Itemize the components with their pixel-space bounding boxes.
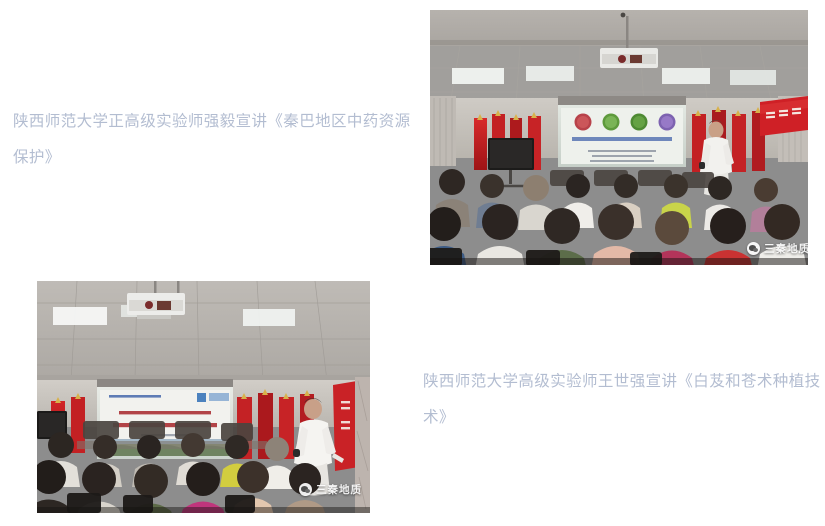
article-page: 陕西师范大学正高级实验师强毅宣讲《秦巴地区中药资源保护》 (0, 0, 825, 526)
lecture-photo-qiangyi[interactable]: 三秦地质 (430, 10, 808, 265)
caption-paragraph-wangshiqiang: 陕西师范大学高级实验师王世强宣讲《白芨和苍术种植技术》 (423, 364, 823, 436)
caption-paragraph-qiangyi: 陕西师范大学正高级实验师强毅宣讲《秦巴地区中药资源保护》 (13, 104, 413, 176)
lecture-hall-illustration (430, 10, 808, 265)
lecture-photo-wangshiqiang[interactable]: 三秦地质 (37, 281, 370, 513)
lecture-hall-illustration-2 (37, 281, 370, 513)
